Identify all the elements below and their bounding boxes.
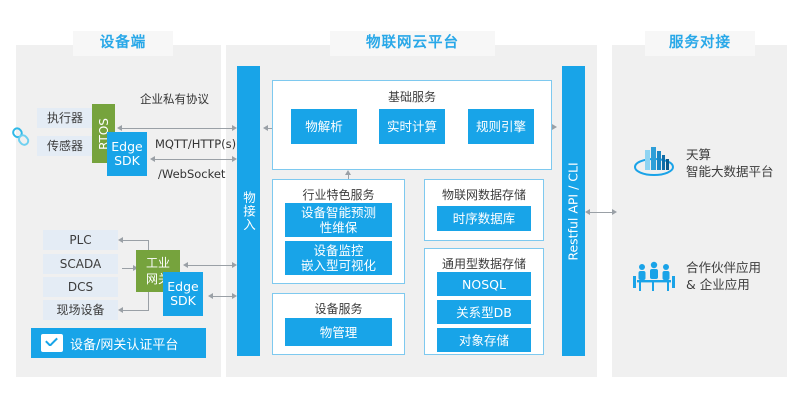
auth-platform-bar[interactable]: 设备/网关认证平台	[31, 328, 206, 358]
service-row-bigdata[interactable]: 天算 智能大数据平台	[632, 140, 782, 186]
service-row-partners[interactable]: 合作伙伴应用 & 企业应用	[632, 253, 782, 299]
panel-title-service-integration: 服务对接	[645, 31, 755, 56]
chip-predictive-maintenance-line1: 设备智能预测	[301, 205, 376, 220]
chip-thing-parsing[interactable]: 物解析	[291, 109, 357, 144]
ingress-bar: 物接入	[237, 66, 260, 356]
panel-title-device-side: 设备端	[73, 31, 173, 56]
chip-device-monitoring-line1: 设备监控	[313, 243, 363, 258]
chip-device-monitoring-line2: 嵌入型可视化	[301, 258, 376, 273]
chip-device-monitoring[interactable]: 设备监控 嵌入型可视化	[285, 241, 392, 275]
chip-realtime-compute[interactable]: 实时计算	[379, 109, 445, 144]
service-partners-line2: & 企业应用	[686, 276, 761, 293]
protocol-label-private: 企业私有协议	[140, 91, 209, 107]
diagram-canvas: 设备端 物联网云平台 服务对接 执行器 传感器 RTOS Edge SDK 企业…	[0, 0, 802, 411]
service-partners-line1: 合作伙伴应用	[686, 259, 761, 276]
partners-meeting-icon	[632, 259, 676, 293]
chip-object-storage[interactable]: 对象存储	[437, 328, 531, 352]
restful-api-bar: Restful API / CLI	[562, 66, 585, 356]
edge-sdk-top-block: Edge SDK	[107, 132, 147, 176]
device-label-dcs: DCS	[43, 277, 118, 297]
device-label-plc: PLC	[43, 230, 118, 250]
chip-rule-engine[interactable]: 规则引擎	[468, 109, 534, 144]
service-bigdata-line2: 智能大数据平台	[686, 163, 774, 180]
edge-sdk-bottom-line2: SDK	[170, 294, 196, 308]
bigdata-platform-icon	[632, 143, 676, 183]
chip-predictive-maintenance-line2: 性维保	[320, 220, 358, 235]
auth-platform-label: 设备/网关认证平台	[70, 334, 178, 353]
panel-service-integration	[612, 45, 787, 377]
protocol-label-mqtt: MQTT/HTTP(s)	[155, 137, 236, 151]
chip-relational-db[interactable]: 关系型DB	[437, 300, 531, 324]
chip-nosql[interactable]: NOSQL	[437, 272, 531, 296]
gateway-line1: 工业	[146, 255, 170, 271]
device-label-field-device: 现场设备	[43, 300, 118, 320]
link-icon	[8, 124, 34, 150]
card-title-base-service: 基础服务	[273, 88, 551, 105]
protocol-label-websocket: /WebSocket	[158, 167, 225, 181]
chip-predictive-maintenance[interactable]: 设备智能预测 性维保	[285, 203, 392, 237]
device-label-sensor: 传感器	[37, 136, 93, 156]
device-label-scada: SCADA	[43, 254, 118, 274]
device-label-actuator: 执行器	[37, 108, 93, 128]
card-title-device-service: 设备服务	[273, 300, 404, 317]
panel-title-iot-cloud-platform: 物联网云平台	[330, 31, 495, 56]
service-label-bigdata: 天算 智能大数据平台	[686, 146, 774, 180]
ingress-bar-label: 物接入	[239, 191, 258, 232]
service-label-partners: 合作伙伴应用 & 企业应用	[686, 259, 761, 293]
edge-sdk-bottom-line1: Edge	[167, 280, 198, 294]
chip-timeseries-db[interactable]: 时序数据库	[437, 206, 531, 231]
card-title-industry-service: 行业特色服务	[273, 186, 404, 203]
restful-api-bar-label: Restful API / CLI	[566, 162, 581, 260]
check-bubble-icon	[41, 334, 63, 352]
chip-thing-management[interactable]: 物管理	[285, 318, 392, 346]
service-bigdata-line1: 天算	[686, 146, 774, 163]
edge-sdk-top-line2: SDK	[114, 154, 140, 168]
card-title-iot-storage: 物联网数据存储	[425, 186, 543, 203]
edge-sdk-top-line1: Edge	[111, 140, 142, 154]
card-title-general-storage: 通用型数据存储	[425, 255, 543, 272]
edge-sdk-bottom-block: Edge SDK	[163, 272, 203, 316]
